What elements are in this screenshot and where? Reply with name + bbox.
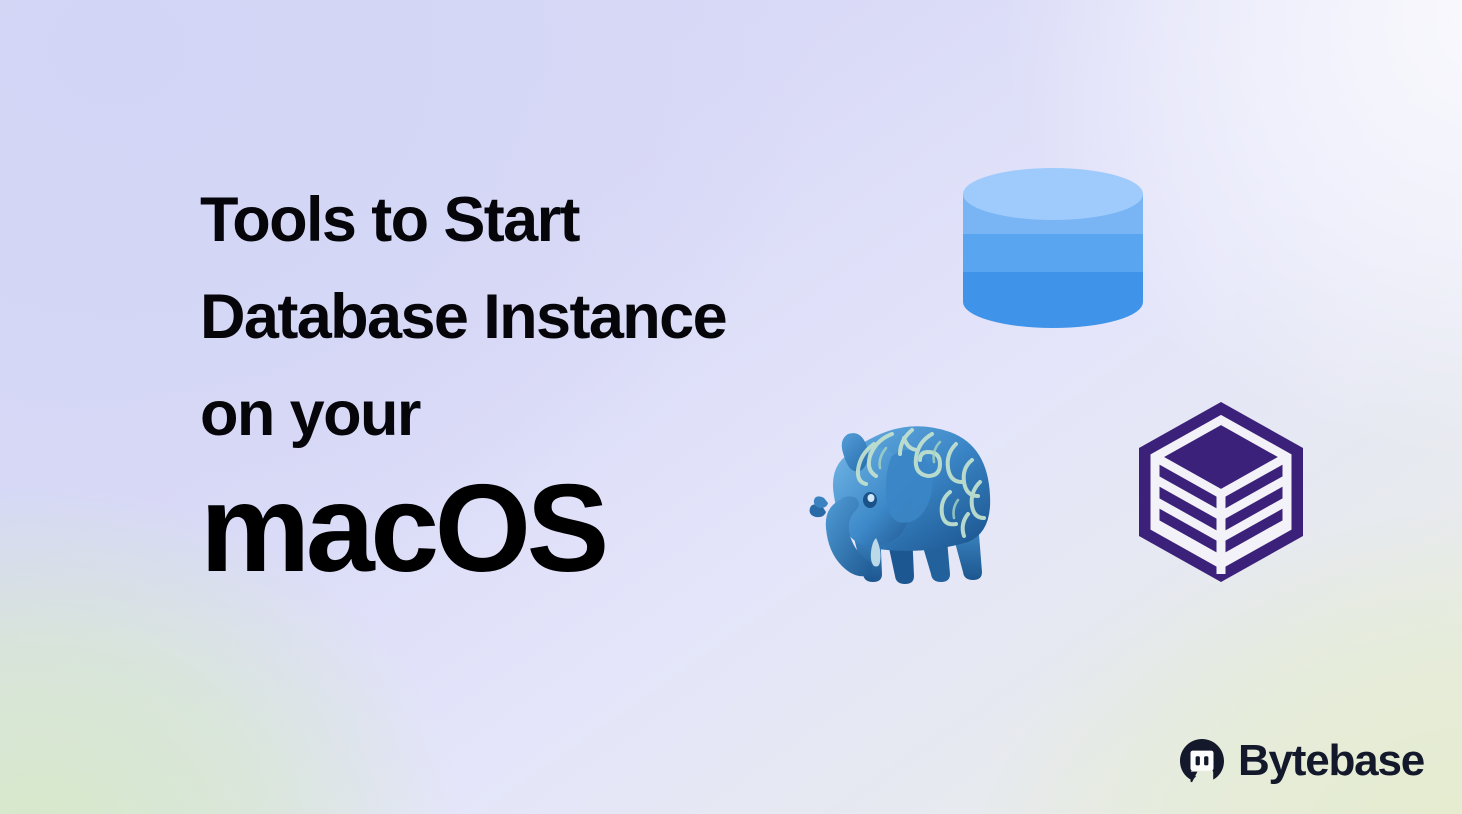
bytebase-wordmark: Bytebase xyxy=(1238,738,1424,784)
elephant-svg xyxy=(800,404,1015,594)
hexagon-cube-svg xyxy=(1131,398,1311,586)
bytebase-mark-icon xyxy=(1179,738,1225,784)
cockroachdb-hexagon-icon xyxy=(1131,398,1311,586)
headline-line-3: on your xyxy=(200,366,900,463)
headline-line-1: Tools to Start xyxy=(200,172,900,269)
database-cylinder-icon xyxy=(963,168,1143,328)
headline-block: Tools to Start Database Instance on your… xyxy=(200,172,900,593)
headline-emphasis-macos: macOS xyxy=(200,465,900,593)
banner-graphic: Tools to Start Database Instance on your… xyxy=(0,0,1462,814)
headline-line-2: Database Instance xyxy=(200,269,900,366)
bytebase-logo: Bytebase xyxy=(1179,738,1424,784)
database-cylinder-svg xyxy=(963,168,1143,328)
postgresql-elephant-icon xyxy=(800,404,1015,594)
